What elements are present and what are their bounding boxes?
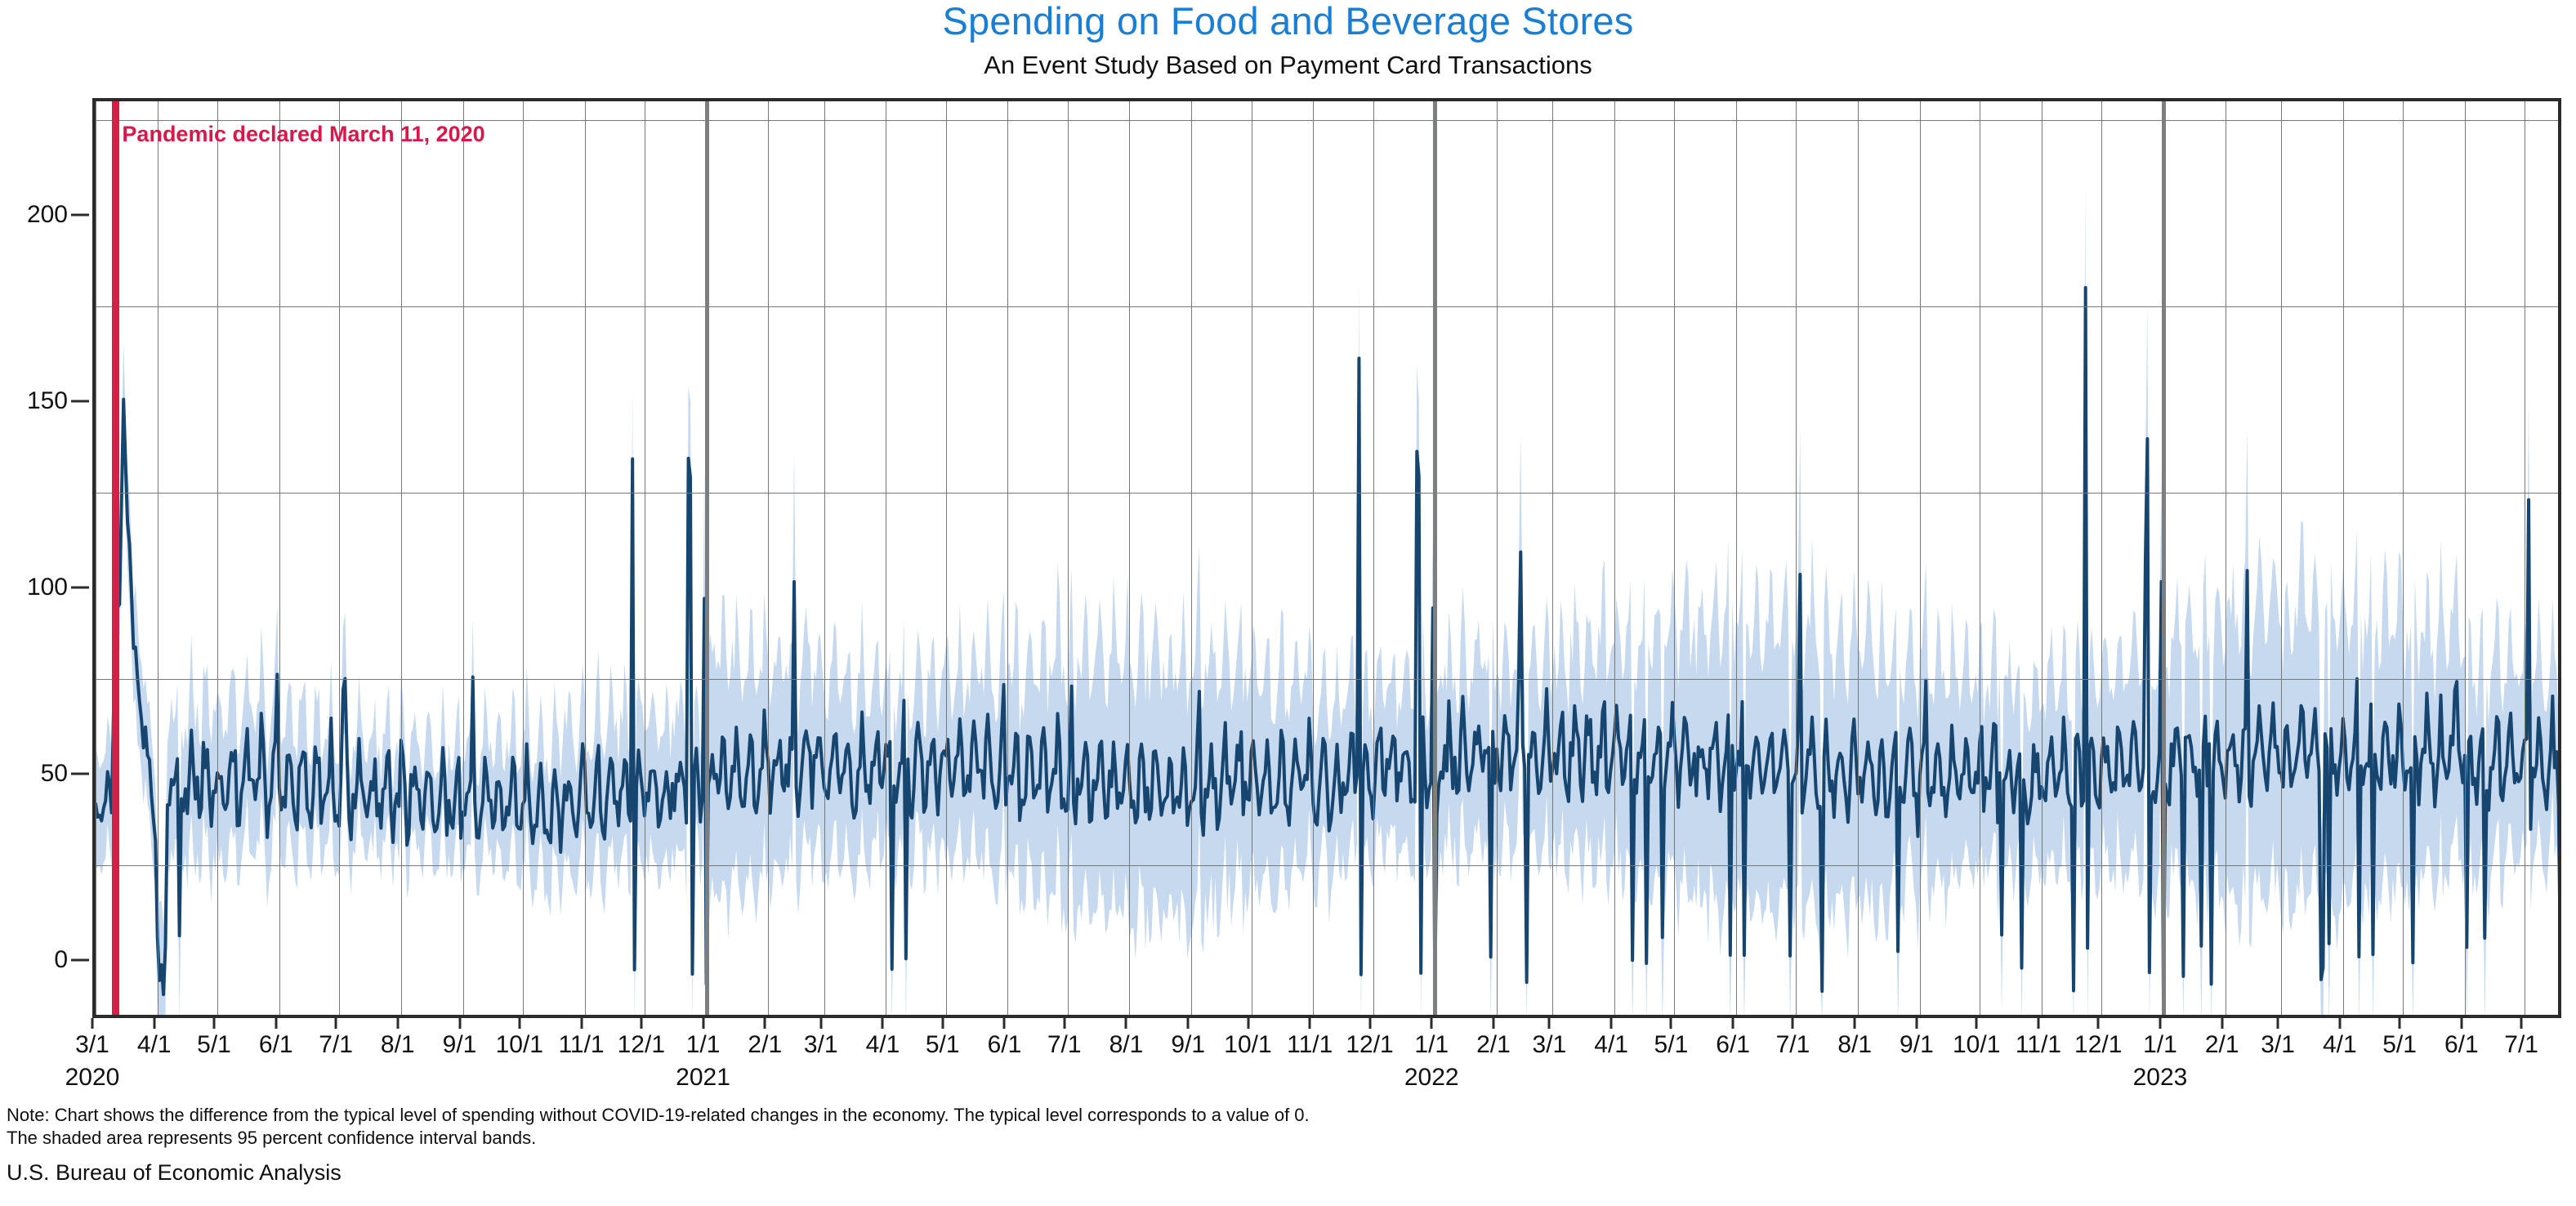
- vertical-gridline: [585, 101, 586, 1015]
- x-axis-tick-label: 4/1: [1594, 1031, 1628, 1059]
- vertical-gridline: [2101, 101, 2102, 1015]
- x-axis-year-label: 2021: [676, 1064, 730, 1092]
- vertical-gridline: [523, 101, 524, 1015]
- x-axis-tick-label: 3/1: [75, 1031, 109, 1059]
- x-axis-tick-label: 5/1: [1654, 1031, 1689, 1059]
- vertical-gridline: [2465, 101, 2466, 1015]
- vertical-gridline: [1191, 101, 1192, 1015]
- y-axis-tick-mark: [71, 772, 89, 775]
- x-axis-tick-label: 5/1: [197, 1031, 231, 1059]
- vertical-gridline: [401, 101, 402, 1015]
- vertical-gridline: [1129, 101, 1130, 1015]
- chart-figure: Spending on Food and Beverage Stores An …: [0, 0, 2576, 1206]
- chart-subtitle: An Event Study Based on Payment Card Tra…: [0, 52, 2576, 78]
- x-axis-tick-mark: [2221, 1018, 2223, 1029]
- x-axis-tick-label: 7/1: [1047, 1031, 1082, 1059]
- x-axis-tick-label: 9/1: [1171, 1031, 1205, 1059]
- x-axis-tick-mark: [941, 1018, 944, 1029]
- vertical-gridline: [1858, 101, 1859, 1015]
- vertical-gridline: [1068, 101, 1069, 1015]
- x-axis-tick-mark: [2159, 1018, 2161, 1029]
- y-axis-tick-label: 100: [27, 574, 68, 601]
- vertical-gridline: [1497, 101, 1498, 1015]
- y-axis-tick-label: 50: [41, 760, 68, 788]
- series-canvas: [96, 101, 2558, 1015]
- x-axis-tick-label: 8/1: [1109, 1031, 1144, 1059]
- x-axis-tick-label: 7/1: [319, 1031, 353, 1059]
- x-axis-tick-label: 7/1: [2504, 1031, 2538, 1059]
- x-axis-tick-label: 3/1: [1533, 1031, 1567, 1059]
- x-axis-tick-mark: [335, 1018, 337, 1029]
- vertical-gridline: [946, 101, 947, 1015]
- x-axis-tick-label: 8/1: [381, 1031, 415, 1059]
- vertical-gridline: [279, 101, 280, 1015]
- x-axis-tick-label: 10/1: [1953, 1031, 2000, 1059]
- x-axis-tick-label: 4/1: [137, 1031, 172, 1059]
- x-axis-tick-mark: [1976, 1018, 1978, 1029]
- x-axis-tick-label: 3/1: [2261, 1031, 2295, 1059]
- x-axis-tick-label: 4/1: [866, 1031, 900, 1059]
- x-axis-tick-mark: [1548, 1018, 1551, 1029]
- x-axis-tick-label: 1/1: [686, 1031, 721, 1059]
- y-axis-tick-mark: [71, 586, 89, 588]
- x-axis-tick-label: 1/1: [1414, 1031, 1449, 1059]
- y-axis-tick-label: 150: [27, 387, 68, 415]
- x-axis-tick-mark: [2520, 1018, 2523, 1029]
- x-axis-tick-label: 3/1: [804, 1031, 838, 1059]
- x-axis-tick-label: 4/1: [2323, 1031, 2357, 1059]
- vertical-gridline: [2343, 101, 2344, 1015]
- x-axis-tick-mark: [1431, 1018, 1433, 1029]
- confidence-interval-band: [96, 182, 2558, 1015]
- x-axis-tick-label: 12/1: [618, 1031, 665, 1059]
- x-axis-tick-label: 7/1: [1776, 1031, 1810, 1059]
- vertical-gridline: [2226, 101, 2226, 1015]
- x-axis-tick-label: 6/1: [259, 1031, 293, 1059]
- x-axis-tick-mark: [1792, 1018, 1794, 1029]
- plot-inner: Pandemic declared March 11, 2020: [96, 101, 2558, 1015]
- x-axis-tick-mark: [1125, 1018, 1127, 1029]
- x-axis-year-label: 2020: [65, 1064, 120, 1092]
- x-axis-tick-mark: [396, 1018, 399, 1029]
- vertical-gridline: [1736, 101, 1737, 1015]
- vertical-gridline: [1796, 101, 1797, 1015]
- horizontal-gridline: [96, 306, 2558, 307]
- vertical-gridline: [2525, 101, 2525, 1015]
- vertical-gridline: [1252, 101, 1252, 1015]
- year-divider-line: [2162, 101, 2166, 1015]
- vertical-gridline: [1920, 101, 1921, 1015]
- horizontal-gridline: [96, 493, 2558, 494]
- x-axis-tick-mark: [2460, 1018, 2462, 1029]
- x-axis-tick-label: 10/1: [496, 1031, 543, 1059]
- horizontal-gridline: [96, 120, 2558, 121]
- y-axis-tick-label: 0: [54, 946, 68, 974]
- x-axis-tick-mark: [1732, 1018, 1734, 1029]
- pandemic-declared-marker-line: [112, 101, 119, 1015]
- x-axis-tick-label: 8/1: [1837, 1031, 1872, 1059]
- x-axis-tick-mark: [1063, 1018, 1065, 1029]
- x-axis-tick-mark: [1915, 1018, 1917, 1029]
- x-axis-tick-label: 6/1: [1716, 1031, 1750, 1059]
- horizontal-gridline: [96, 865, 2558, 866]
- x-axis-year-label: 2023: [2133, 1064, 2188, 1092]
- vertical-gridline: [1313, 101, 1314, 1015]
- x-axis-tick-label: 2/1: [748, 1031, 782, 1059]
- x-axis-tick-mark: [1854, 1018, 1856, 1029]
- x-axis-tick-label: 11/1: [1287, 1031, 1333, 1059]
- chart-note-line-2: The shaded area represents 95 percent co…: [7, 1128, 536, 1150]
- x-axis-tick-label: 5/1: [926, 1031, 960, 1059]
- y-axis-tick-mark: [71, 400, 89, 402]
- vertical-gridline: [1007, 101, 1008, 1015]
- x-axis-tick-mark: [2037, 1018, 2039, 1029]
- x-axis-tick-mark: [702, 1018, 704, 1029]
- year-divider-line: [1433, 101, 1437, 1015]
- x-axis-tick-mark: [819, 1018, 822, 1029]
- x-axis-tick-mark: [1610, 1018, 1613, 1029]
- x-axis-tick-label: 2/1: [1476, 1031, 1511, 1059]
- vertical-gridline: [1373, 101, 1374, 1015]
- x-axis-tick-label: 10/1: [1224, 1031, 1271, 1059]
- plot-area: Pandemic declared March 11, 2020: [92, 98, 2561, 1018]
- x-axis-tick-label: 12/1: [2074, 1031, 2122, 1059]
- horizontal-gridline: [96, 679, 2558, 680]
- vertical-gridline: [645, 101, 645, 1015]
- x-axis-tick-mark: [1247, 1018, 1249, 1029]
- x-axis-tick-label: 2/1: [2205, 1031, 2239, 1059]
- vertical-gridline: [217, 101, 218, 1015]
- vertical-gridline: [1980, 101, 1980, 1015]
- x-axis-tick-mark: [2277, 1018, 2279, 1029]
- vertical-gridline: [1552, 101, 1553, 1015]
- x-axis-tick-label: 5/1: [2382, 1031, 2417, 1059]
- x-axis-tick-mark: [92, 1018, 94, 1029]
- chart-source: U.S. Bureau of Economic Analysis: [7, 1160, 342, 1186]
- vertical-gridline: [886, 101, 886, 1015]
- vertical-gridline: [2281, 101, 2282, 1015]
- x-axis-tick-mark: [580, 1018, 583, 1029]
- x-axis-tick-label: 9/1: [1900, 1031, 1934, 1059]
- x-axis-tick-mark: [1670, 1018, 1672, 1029]
- x-axis-tick-label: 1/1: [2143, 1031, 2177, 1059]
- x-axis-tick-mark: [2097, 1018, 2100, 1029]
- y-axis-tick-mark: [71, 213, 89, 216]
- vertical-gridline: [158, 101, 158, 1015]
- x-axis-tick-mark: [1368, 1018, 1371, 1029]
- x-axis-tick-mark: [882, 1018, 884, 1029]
- vertical-gridline: [1614, 101, 1615, 1015]
- vertical-gridline: [96, 101, 96, 1015]
- x-axis-tick-label: 11/1: [2016, 1031, 2061, 1059]
- x-axis-tick-mark: [1187, 1018, 1190, 1029]
- x-axis-tick-mark: [1492, 1018, 1494, 1029]
- chart-title: Spending on Food and Beverage Stores: [0, 2, 2576, 40]
- x-axis-tick-mark: [153, 1018, 155, 1029]
- x-axis-tick-label: 9/1: [443, 1031, 477, 1059]
- x-axis-tick-label: 11/1: [558, 1031, 604, 1059]
- vertical-gridline: [339, 101, 340, 1015]
- x-axis-tick-mark: [518, 1018, 520, 1029]
- x-axis-tick-mark: [213, 1018, 216, 1029]
- x-axis-year-label: 2022: [1404, 1064, 1459, 1092]
- chart-note-line-1: Note: Chart shows the difference from th…: [7, 1105, 1310, 1127]
- x-axis-tick-mark: [2338, 1018, 2341, 1029]
- y-axis-tick-label: 200: [27, 201, 68, 229]
- x-axis-tick-mark: [1309, 1018, 1311, 1029]
- x-axis-tick-label: 6/1: [2444, 1031, 2479, 1059]
- vertical-gridline: [1674, 101, 1675, 1015]
- x-axis-tick-mark: [2399, 1018, 2401, 1029]
- x-axis-tick-label: 12/1: [1346, 1031, 1393, 1059]
- vertical-gridline: [824, 101, 825, 1015]
- x-axis-tick-mark: [275, 1018, 277, 1029]
- x-axis-tick-mark: [1003, 1018, 1006, 1029]
- x-axis: 3/14/15/16/17/18/19/110/111/112/11/12/13…: [92, 1018, 2561, 1100]
- vertical-gridline: [768, 101, 769, 1015]
- vertical-gridline: [2042, 101, 2042, 1015]
- pandemic-declared-annotation: Pandemic declared March 11, 2020: [122, 122, 484, 147]
- x-axis-tick-label: 6/1: [988, 1031, 1022, 1059]
- vertical-gridline: [2403, 101, 2404, 1015]
- vertical-gridline: [463, 101, 464, 1015]
- y-axis: 050100150200: [0, 98, 92, 1018]
- y-axis-tick-mark: [71, 958, 89, 961]
- x-axis-tick-mark: [764, 1018, 766, 1029]
- year-divider-line: [705, 101, 709, 1015]
- x-axis-tick-mark: [640, 1018, 642, 1029]
- x-axis-tick-mark: [458, 1018, 461, 1029]
